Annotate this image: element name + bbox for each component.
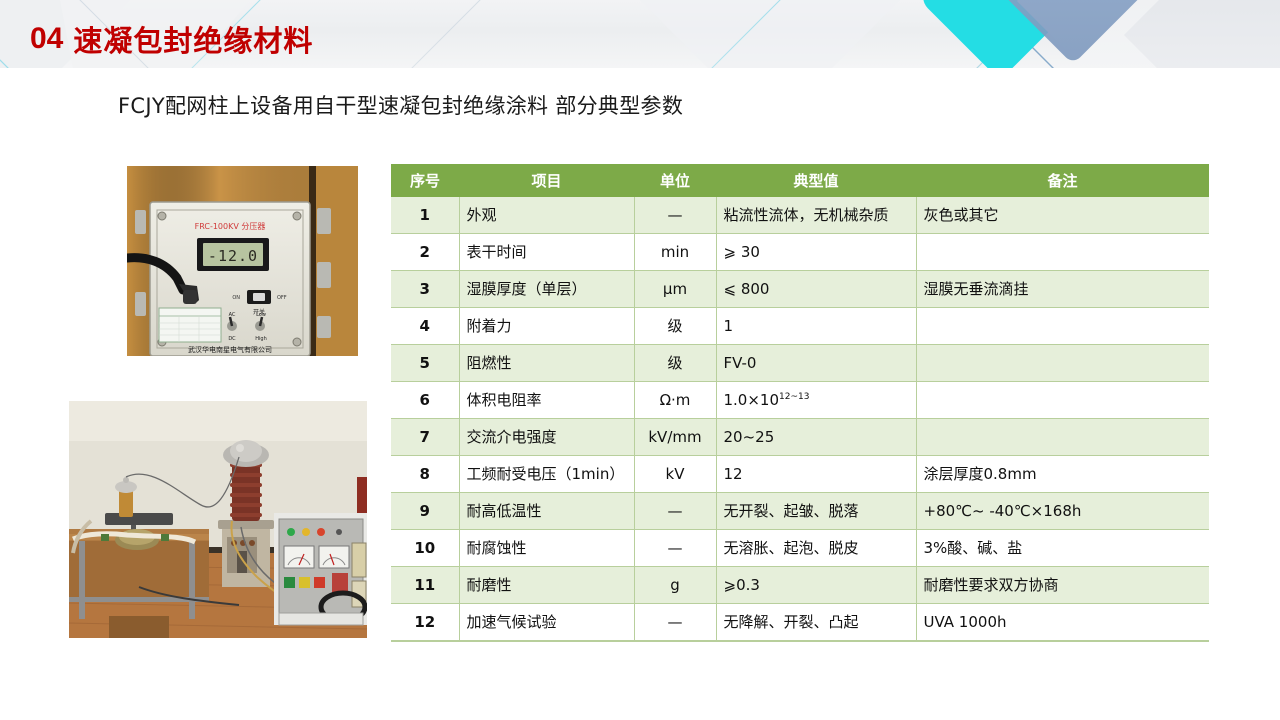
svg-text:DC: DC (228, 336, 236, 342)
cell-typical: 20~25 (716, 419, 916, 456)
cell-item: 外观 (459, 197, 634, 234)
table-row: 7交流介电强度kV/mm20~25 (391, 419, 1209, 456)
cell-unit: 级 (634, 308, 716, 345)
cell-typical: 1 (716, 308, 916, 345)
svg-text:High: High (255, 336, 267, 342)
photo-hv-test-setup (69, 401, 367, 638)
cell-item: 工频耐受电压（1min） (459, 456, 634, 493)
cell-typical: 粘流性流体，无机械杂质 (716, 197, 916, 234)
cell-unit: min (634, 234, 716, 271)
table-row: 2表干时间min⩾ 30 (391, 234, 1209, 271)
cell-item: 湿膜厚度（单层） (459, 271, 634, 308)
cell-unit: — (634, 493, 716, 530)
svg-text:OFF: OFF (277, 295, 287, 301)
col-header-item: 项目 (459, 164, 634, 197)
slide-canvas: 04 速凝包封绝缘材料 FCJY配网柱上设备用自干型速凝包封绝缘涂料 部分典型参… (0, 0, 1280, 720)
cell-typical: ⩽ 800 (716, 271, 916, 308)
cell-unit: kV (634, 456, 716, 493)
svg-text:FRC-100KV 分压器: FRC-100KV 分压器 (195, 222, 266, 231)
cell-item: 阻燃性 (459, 345, 634, 382)
cell-remark: 耐磨性要求双方协商 (916, 567, 1209, 604)
cell-remark (916, 382, 1209, 419)
cell-item: 交流介电强度 (459, 419, 634, 456)
cell-no: 1 (391, 197, 459, 234)
cell-no: 4 (391, 308, 459, 345)
table-row: 5阻燃性级FV-0 (391, 345, 1209, 382)
cell-remark (916, 308, 1209, 345)
cell-item: 表干时间 (459, 234, 634, 271)
cell-remark: 3%酸、碱、盐 (916, 530, 1209, 567)
cell-remark: +80℃~ -40℃×168h (916, 493, 1209, 530)
cell-unit: kV/mm (634, 419, 716, 456)
cell-item: 体积电阻率 (459, 382, 634, 419)
cell-unit: g (634, 567, 716, 604)
cell-typical: 无开裂、起皱、脱落 (716, 493, 916, 530)
table-row: 6体积电阻率Ω·m1.0×1012~13 (391, 382, 1209, 419)
cell-remark: 涂层厚度0.8mm (916, 456, 1209, 493)
cell-unit: Ω·m (634, 382, 716, 419)
cell-unit: — (634, 604, 716, 642)
cell-remark (916, 419, 1209, 456)
table-row: 1外观—粘流性流体，无机械杂质灰色或其它 (391, 197, 1209, 234)
subtitle: FCJY配网柱上设备用自干型速凝包封绝缘涂料 部分典型参数 (118, 90, 683, 120)
table-row: 10耐腐蚀性—无溶胀、起泡、脱皮3%酸、碱、盐 (391, 530, 1209, 567)
cell-remark: 湿膜无垂流滴挂 (916, 271, 1209, 308)
cell-no: 12 (391, 604, 459, 642)
cell-no: 11 (391, 567, 459, 604)
cell-item: 加速气候试验 (459, 604, 634, 642)
table-header-row: 序号 项目 单位 典型值 备注 (391, 164, 1209, 197)
photo-voltage-divider: FRC-100KV 分压器 -12.0 输入 ON OFF 开关 (127, 166, 358, 356)
cell-no: 3 (391, 271, 459, 308)
cell-typical: FV-0 (716, 345, 916, 382)
parameters-table: 序号 项目 单位 典型值 备注 1外观—粘流性流体，无机械杂质灰色或其它2表干时… (391, 164, 1209, 642)
col-header-no: 序号 (391, 164, 459, 197)
col-header-unit: 单位 (634, 164, 716, 197)
cell-item: 附着力 (459, 308, 634, 345)
cell-unit: μm (634, 271, 716, 308)
page-title: 04 速凝包封绝缘材料 (30, 18, 313, 60)
cell-typical: 无溶胀、起泡、脱皮 (716, 530, 916, 567)
col-header-typical: 典型值 (716, 164, 916, 197)
svg-text:武汉华电南星电气有限公司: 武汉华电南星电气有限公司 (188, 345, 272, 354)
table-row: 12加速气候试验—无降解、开裂、凸起UVA 1000h (391, 604, 1209, 642)
svg-text:-12.0: -12.0 (208, 247, 258, 265)
cell-no: 9 (391, 493, 459, 530)
table-row: 11耐磨性g⩾0.3耐磨性要求双方协商 (391, 567, 1209, 604)
exponent: 12~13 (779, 392, 809, 402)
table-row: 8工频耐受电压（1min）kV12涂层厚度0.8mm (391, 456, 1209, 493)
table-row: 9耐高低温性—无开裂、起皱、脱落+80℃~ -40℃×168h (391, 493, 1209, 530)
cell-typical: 无降解、开裂、凸起 (716, 604, 916, 642)
cell-remark (916, 234, 1209, 271)
cell-remark: UVA 1000h (916, 604, 1209, 642)
svg-text:AC: AC (229, 312, 236, 318)
cell-typical: ⩾0.3 (716, 567, 916, 604)
cell-unit: 级 (634, 345, 716, 382)
cell-no: 7 (391, 419, 459, 456)
col-header-remark: 备注 (916, 164, 1209, 197)
svg-text:Low: Low (256, 312, 266, 318)
section-title: 速凝包封绝缘材料 (73, 18, 313, 60)
cell-typical: ⩾ 30 (716, 234, 916, 271)
svg-text:ON: ON (232, 295, 240, 301)
table-row: 3湿膜厚度（单层）μm⩽ 800湿膜无垂流滴挂 (391, 271, 1209, 308)
cell-unit: — (634, 197, 716, 234)
cell-remark (916, 345, 1209, 382)
cell-no: 6 (391, 382, 459, 419)
cell-item: 耐磨性 (459, 567, 634, 604)
cell-unit: — (634, 530, 716, 567)
cell-no: 2 (391, 234, 459, 271)
cell-no: 8 (391, 456, 459, 493)
cell-no: 10 (391, 530, 459, 567)
cell-no: 5 (391, 345, 459, 382)
section-number: 04 (30, 22, 63, 56)
cell-remark: 灰色或其它 (916, 197, 1209, 234)
cell-item: 耐腐蚀性 (459, 530, 634, 567)
table-body: 1外观—粘流性流体，无机械杂质灰色或其它2表干时间min⩾ 303湿膜厚度（单层… (391, 197, 1209, 641)
cell-typical: 12 (716, 456, 916, 493)
table-row: 4附着力级1 (391, 308, 1209, 345)
cell-item: 耐高低温性 (459, 493, 634, 530)
cell-typical: 1.0×1012~13 (716, 382, 916, 419)
